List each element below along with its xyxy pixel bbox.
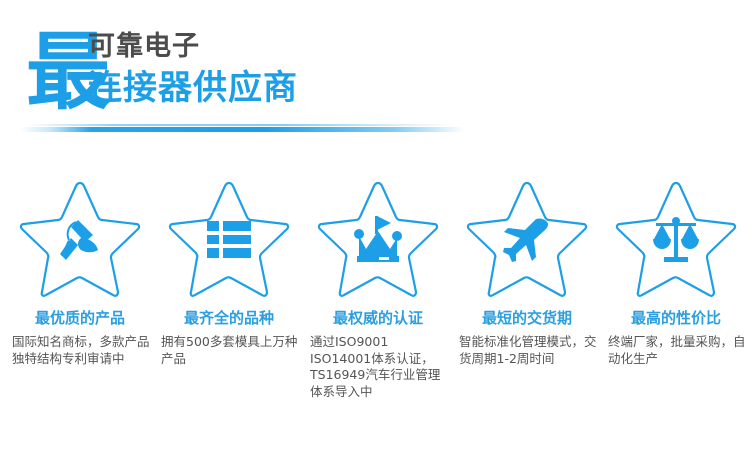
feature-title-3: 最权威的认证 xyxy=(310,308,446,328)
feature-title-2: 最齐全的品种 xyxy=(161,308,297,328)
divider-thick-line xyxy=(20,127,465,132)
feature-item-4[interactable]: 最短的交货期 智能标准化管理模式，交货周期1-2周时间 xyxy=(459,178,608,408)
headline-text-group: 可靠电子 连接器供应商 xyxy=(88,30,528,110)
feature-desc-4: 智能标准化管理模式，交货周期1-2周时间 xyxy=(459,334,598,367)
header-divider xyxy=(0,124,752,136)
feature-desc-5: 终端厂家，批量采购，自动化生产 xyxy=(608,334,747,367)
feature-item-5[interactable]: 最高的性价比 终端厂家，批量采购，自动化生产 xyxy=(608,178,752,408)
banner-header: 最 可靠电子 连接器供应商 xyxy=(0,0,752,150)
feature-item-3[interactable]: 最权威的认证 通过ISO9001 ISO14001体系认证，TS16949汽车行… xyxy=(310,178,459,408)
feature-item-2[interactable]: 最齐全的品种 拥有500多套模具上万种产品 xyxy=(161,178,310,408)
star-frame-3 xyxy=(310,178,446,302)
star-frame-1 xyxy=(12,178,148,302)
feature-desc-1: 国际知名商标，多款产品独特结构专利审请中 xyxy=(12,334,151,367)
star-frame-4 xyxy=(459,178,595,302)
satellite-dish-icon xyxy=(12,178,148,302)
balance-scale-icon xyxy=(608,178,744,302)
star-frame-2 xyxy=(161,178,297,302)
feature-list: 最优质的产品 国际知名商标，多款产品独特结构专利审请中 xyxy=(0,178,752,408)
headline-line-two: 连接器供应商 xyxy=(88,66,528,110)
feature-desc-2: 拥有500多套模具上万种产品 xyxy=(161,334,300,367)
airplane-icon xyxy=(459,178,595,302)
headline-line-one: 可靠电子 xyxy=(88,30,528,64)
feature-title-4: 最短的交货期 xyxy=(459,308,595,328)
divider-thin-line xyxy=(28,124,453,126)
headline-block: 最 可靠电子 连接器供应商 xyxy=(26,30,546,126)
feature-item-1[interactable]: 最优质的产品 国际知名商标，多款产品独特结构专利审请中 xyxy=(12,178,161,408)
grid-list-icon xyxy=(161,178,297,302)
star-frame-5 xyxy=(608,178,744,302)
feature-title-5: 最高的性价比 xyxy=(608,308,744,328)
feature-title-1: 最优质的产品 xyxy=(12,308,148,328)
feature-desc-3: 通过ISO9001 ISO14001体系认证，TS16949汽车行业管理体系导入… xyxy=(310,334,449,400)
crown-flag-icon xyxy=(310,178,446,302)
